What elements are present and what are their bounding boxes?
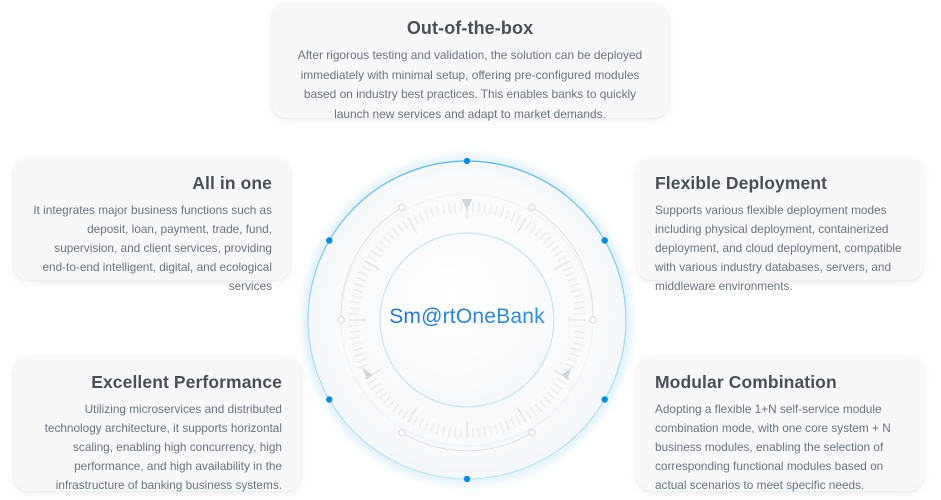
card-excellent-performance[interactable]: Excellent Performance Utilizing microser… xyxy=(14,357,300,491)
ring-svg xyxy=(292,145,642,495)
infographic-stage: Sm@rtOneBank Out-of-the-box After rigoro… xyxy=(0,0,941,500)
card-all-in-one[interactable]: All in one It integrates major business … xyxy=(14,158,290,280)
card-title: Modular Combination xyxy=(655,371,905,395)
card-body: Supports various flexible deployment mod… xyxy=(655,201,905,297)
card-body: Adopting a flexible 1+N self-service mod… xyxy=(655,400,905,496)
central-ring-graphic: Sm@rtOneBank xyxy=(292,145,642,495)
inner-circle xyxy=(380,233,554,407)
card-title: Flexible Deployment xyxy=(655,172,905,196)
card-body: Utilizing microservices and distributed … xyxy=(32,400,282,496)
card-title: Excellent Performance xyxy=(32,371,282,395)
card-modular-combination[interactable]: Modular Combination Adopting a flexible … xyxy=(637,357,923,491)
card-title: Out-of-the-box xyxy=(290,16,650,40)
card-body: After rigorous testing and validation, t… xyxy=(290,46,650,124)
card-body: It integrates major business functions s… xyxy=(32,201,272,297)
card-out-of-the-box[interactable]: Out-of-the-box After rigorous testing an… xyxy=(272,4,668,118)
card-flexible-deployment[interactable]: Flexible Deployment Supports various fle… xyxy=(637,158,923,280)
card-title: All in one xyxy=(32,172,272,196)
